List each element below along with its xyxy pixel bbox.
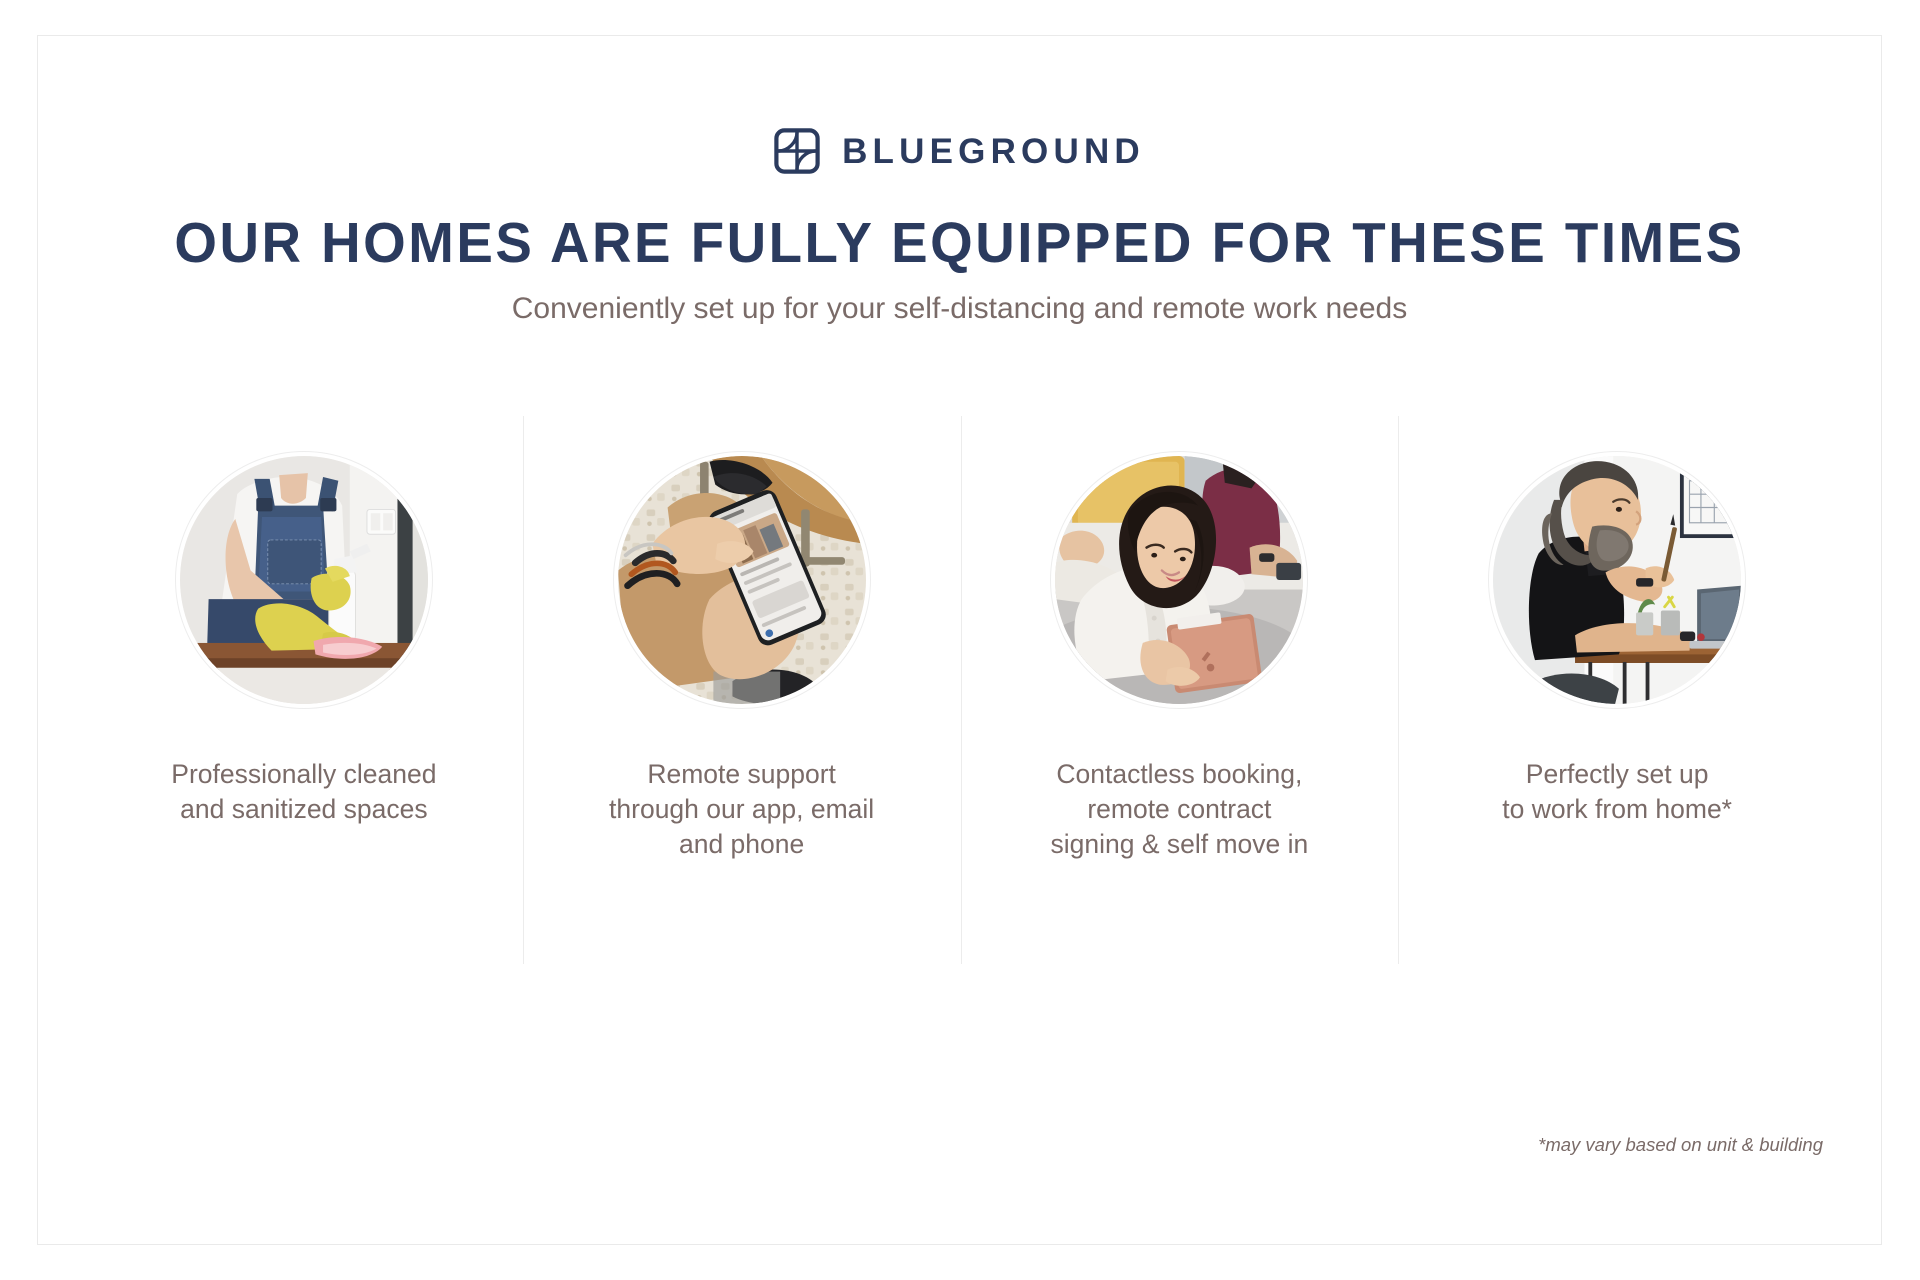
tablet-booking-photo	[1055, 456, 1303, 704]
caption-line: through our app, email	[609, 792, 874, 827]
caption-line: to work from home*	[1502, 792, 1732, 827]
feature-column-work-from-home: Perfectly set up to work from home*	[1398, 416, 1836, 964]
caption-line: Contactless booking,	[1050, 757, 1308, 792]
feature-caption: Remote support through our app, email an…	[609, 757, 874, 862]
caption-line: signing & self move in	[1050, 827, 1308, 862]
feature-column-contactless-booking: Contactless booking, remote contract sig…	[961, 416, 1399, 964]
feature-columns: Professionally cleaned and sanitized spa…	[85, 416, 1836, 964]
footnote: *may vary based on unit & building	[1538, 1134, 1823, 1156]
feature-column-cleaning: Professionally cleaned and sanitized spa…	[85, 416, 523, 964]
caption-line: Professionally cleaned	[171, 757, 436, 792]
page-title: OUR HOMES ARE FULLY EQUIPPED FOR THESE T…	[75, 214, 1844, 274]
caption-line: and phone	[609, 827, 874, 862]
brand-name: BLUEGROUND	[842, 134, 1145, 169]
caption-line: Remote support	[609, 757, 874, 792]
blueground-logo-icon	[774, 128, 820, 174]
photo-ring	[1050, 451, 1308, 709]
cleaning-photo	[180, 456, 428, 704]
poster-frame: BLUEGROUND OUR HOMES ARE FULLY EQUIPPED …	[37, 35, 1882, 1245]
caption-line: Perfectly set up	[1502, 757, 1732, 792]
feature-caption: Perfectly set up to work from home*	[1502, 757, 1732, 827]
caption-line: and sanitized spaces	[171, 792, 436, 827]
phone-app-photo	[618, 456, 866, 704]
feature-column-remote-support: Remote support through our app, email an…	[523, 416, 961, 964]
brand-lockup: BLUEGROUND	[38, 128, 1881, 174]
feature-caption: Professionally cleaned and sanitized spa…	[171, 757, 436, 827]
photo-ring	[175, 451, 433, 709]
photo-ring	[1488, 451, 1746, 709]
page-subtitle: Conveniently set up for your self-distan…	[38, 289, 1881, 328]
photo-ring	[613, 451, 871, 709]
feature-caption: Contactless booking, remote contract sig…	[1050, 757, 1308, 862]
work-from-home-photo	[1493, 456, 1741, 704]
caption-line: remote contract	[1050, 792, 1308, 827]
